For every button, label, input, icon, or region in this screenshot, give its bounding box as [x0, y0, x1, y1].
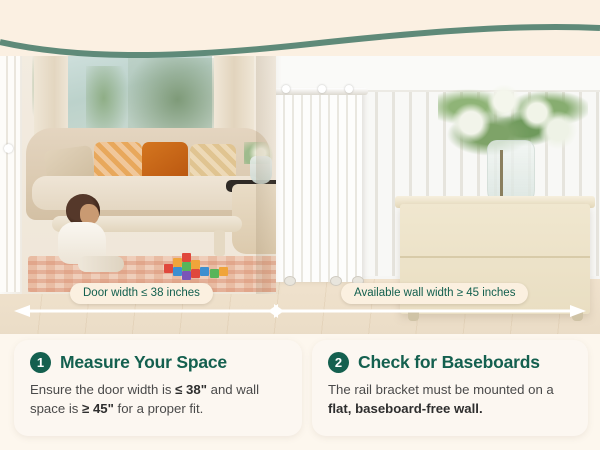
page-title: Installation Steps — [28, 4, 294, 42]
gate-foot — [330, 276, 342, 286]
toy-blocks — [158, 250, 230, 278]
dresser-drawer-seam — [400, 256, 590, 258]
door-bracket-icon — [4, 144, 13, 153]
door-panel — [0, 44, 20, 292]
measurement-arrow — [0, 303, 600, 319]
toddler-legs — [78, 256, 124, 272]
step-1-title: Measure Your Space — [60, 352, 227, 373]
gate-bracket-icon — [318, 85, 326, 93]
step-number-badge: 2 — [328, 352, 349, 373]
step-number-badge: 1 — [30, 352, 51, 373]
step-card-2[interactable]: 2 Check for Baseboards The rail bracket … — [312, 340, 588, 436]
gate-bracket-icon — [345, 85, 353, 93]
step-1-body: Ensure the door width is ≤ 38" and wall … — [30, 380, 286, 418]
gate-bracket-icon — [282, 85, 290, 93]
step-2-heading: 2 Check for Baseboards — [328, 352, 572, 373]
installation-steps-infographic: Door width ≤ 38 inches Available wall wi… — [0, 0, 600, 450]
step-card-1[interactable]: 1 Measure Your Space Ensure the door wid… — [14, 340, 302, 436]
header-bar: Installation Steps — [0, 0, 600, 56]
steps-container: 1 Measure Your Space Ensure the door wid… — [0, 334, 600, 450]
wall-width-pill: Available wall width ≥ 45 inches — [341, 283, 528, 304]
gate-foot — [284, 276, 296, 286]
step-1-heading: 1 Measure Your Space — [30, 352, 286, 373]
step-2-title: Check for Baseboards — [358, 352, 540, 373]
doorway-shadow — [256, 44, 282, 294]
door-width-pill: Door width ≤ 38 inches — [70, 283, 213, 304]
step-2-body: The rail bracket must be mounted on a fl… — [328, 380, 572, 418]
retractable-gate-panel — [276, 92, 362, 282]
living-room-scene — [18, 44, 276, 294]
